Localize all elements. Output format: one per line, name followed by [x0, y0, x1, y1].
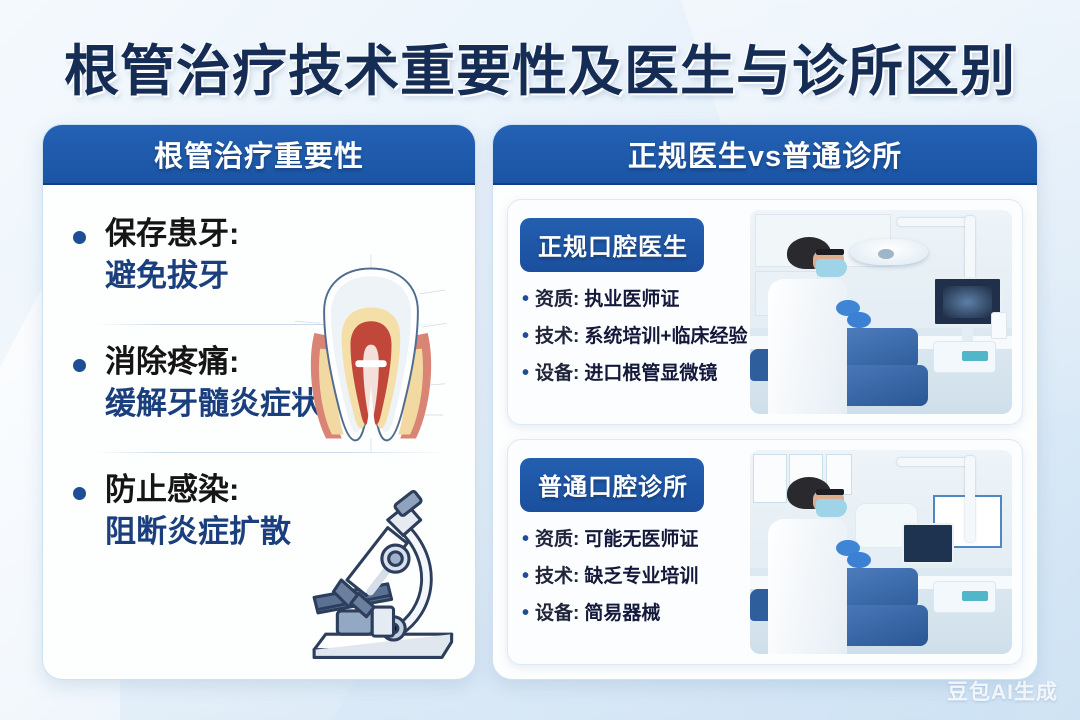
bullet-dot-icon	[73, 487, 86, 500]
bullet-dot-icon: •	[522, 565, 529, 587]
tooth-cross-section-icon	[273, 247, 469, 457]
list-item: • 资质: 执业医师证	[522, 288, 754, 312]
spec-key: 资质:	[535, 528, 579, 552]
spec-value: 可能无医师证	[584, 528, 698, 552]
panel-comparison: 正规医生vs普通诊所 正规口腔医生 • 资质: 执业医师证 • 技术: 系统培训…	[492, 124, 1038, 680]
list-item: • 设备: 简易器械	[522, 602, 754, 626]
bullet-dot-icon: •	[522, 362, 529, 384]
spec-value: 简易器械	[584, 602, 660, 626]
bullet-dot-icon: •	[522, 288, 529, 310]
spec-value: 进口根管显微镜	[584, 362, 717, 386]
spec-key: 设备:	[535, 362, 579, 386]
spec-value: 缺乏专业培训	[584, 565, 698, 589]
bullet-dot-icon	[73, 231, 86, 244]
bullet-dot-icon	[73, 359, 86, 372]
card-text-column: 普通口腔诊所 • 资质: 可能无医师证 • 技术: 缺乏专业培训 • 设备:	[508, 440, 754, 664]
panel-importance-body: 保存患牙: 避免拔牙 消除疼痛: 缓解牙髓炎症状 防止感染: 阻断炎症扩散	[43, 185, 475, 679]
card-ordinary-clinic: 普通口腔诊所 • 资质: 可能无医师证 • 技术: 缺乏专业培训 • 设备:	[507, 439, 1023, 665]
panel-comparison-body: 正规口腔医生 • 资质: 执业医师证 • 技术: 系统培训+临床经验 • 设备:	[493, 185, 1037, 679]
list-item: • 设备: 进口根管显微镜	[522, 362, 754, 386]
panel-comparison-header: 正规医生vs普通诊所	[493, 125, 1037, 185]
clinic-photo-ordinary	[750, 450, 1012, 654]
panel-importance-header: 根管治疗重要性	[43, 125, 475, 185]
spec-list: • 资质: 可能无医师证 • 技术: 缺乏专业培训 • 设备: 简易器械	[522, 528, 754, 625]
spec-value: 执业医师证	[584, 288, 679, 312]
spec-key: 资质:	[535, 288, 579, 312]
spec-list: • 资质: 执业医师证 • 技术: 系统培训+临床经验 • 设备: 进口根管显微…	[522, 288, 754, 385]
card-text-column: 正规口腔医生 • 资质: 执业医师证 • 技术: 系统培训+临床经验 • 设备:	[508, 200, 754, 424]
card-regular-doctor: 正规口腔医生 • 资质: 执业医师证 • 技术: 系统培训+临床经验 • 设备:	[507, 199, 1023, 425]
bullet-dot-icon: •	[522, 325, 529, 347]
bullet-dot-icon: •	[522, 528, 529, 550]
microscope-icon	[287, 487, 471, 671]
page-title: 根管治疗技术重要性及医生与诊所区别	[0, 26, 1080, 106]
spec-key: 技术:	[535, 325, 579, 349]
bullet-dot-icon: •	[522, 602, 529, 624]
panel-importance: 根管治疗重要性 保存患牙: 避免拔牙 消除疼痛: 缓解牙髓炎症状 防止感染: 阻…	[42, 124, 476, 680]
spec-value: 系统培训+临床经验	[584, 325, 747, 349]
spec-key: 设备:	[535, 602, 579, 626]
list-item: • 资质: 可能无医师证	[522, 528, 754, 552]
watermark: 豆包AI生成	[947, 676, 1058, 706]
list-item: • 技术: 系统培训+临床经验	[522, 325, 754, 349]
list-item: • 技术: 缺乏专业培训	[522, 565, 754, 589]
clinic-photo-regular	[750, 210, 1012, 414]
status-badge: 普通口腔诊所	[520, 458, 704, 512]
spec-key: 技术:	[535, 565, 579, 589]
status-badge: 正规口腔医生	[520, 218, 704, 272]
